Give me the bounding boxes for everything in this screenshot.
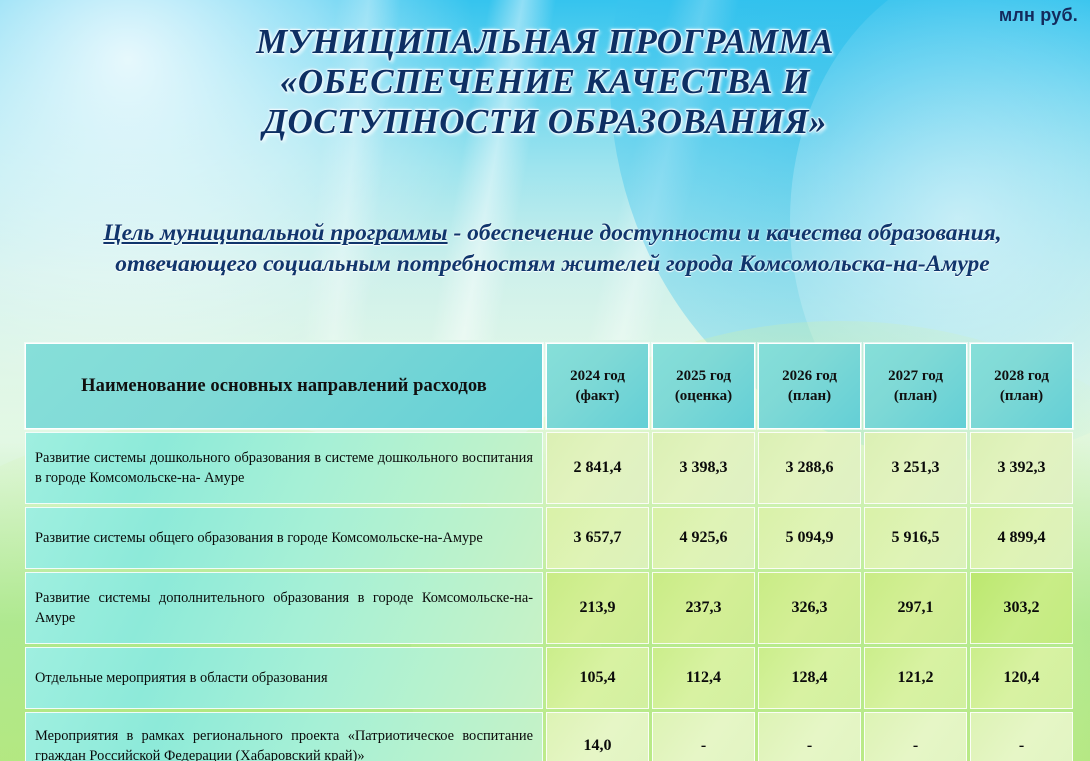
row-label: Мероприятия в рамках регионального проек… bbox=[25, 712, 543, 761]
cell-value: 303,2 bbox=[970, 572, 1073, 644]
program-goal: Цель муниципальной программы - обеспечен… bbox=[55, 218, 1050, 280]
column-header-2028-kind: (план) bbox=[973, 386, 1070, 406]
column-header-2024: 2024 год (факт) bbox=[546, 343, 649, 429]
column-header-2027-kind: (план) bbox=[867, 386, 964, 406]
column-header-2026-year: 2026 год bbox=[782, 368, 837, 384]
column-header-2025-year: 2025 год bbox=[676, 368, 731, 384]
slide-canvas: млн руб. МУНИЦИПАЛЬНАЯ ПРОГРАММА «ОБЕСПЕ… bbox=[0, 0, 1090, 761]
table-row: Развитие системы дошкольного образования… bbox=[25, 432, 1073, 504]
row-label: Развитие системы дополнительного образов… bbox=[25, 572, 543, 644]
column-header-2024-kind: (факт) bbox=[549, 386, 646, 406]
cell-value: 4 925,6 bbox=[652, 507, 755, 569]
column-header-2028-year: 2028 год bbox=[994, 368, 1049, 384]
table-row: Отдельные мероприятия в области образова… bbox=[25, 647, 1073, 709]
column-header-2025: 2025 год (оценка) bbox=[652, 343, 755, 429]
column-header-2027-year: 2027 год bbox=[888, 368, 943, 384]
cell-value: - bbox=[970, 712, 1073, 761]
table-header: Наименование основных направлений расход… bbox=[25, 343, 1073, 429]
cell-value: 5 916,5 bbox=[864, 507, 967, 569]
cell-value: 3 657,7 bbox=[546, 507, 649, 569]
cell-value: - bbox=[864, 712, 967, 761]
cell-value: 105,4 bbox=[546, 647, 649, 709]
cell-value: 326,3 bbox=[758, 572, 861, 644]
title-line-2: «ОБЕСПЕЧЕНИЕ КАЧЕСТВА И bbox=[0, 62, 1090, 102]
row-label: Развитие системы общего образования в го… bbox=[25, 507, 543, 569]
cell-value: 5 094,9 bbox=[758, 507, 861, 569]
table-body: Развитие системы дошкольного образования… bbox=[25, 432, 1073, 761]
column-header-name: Наименование основных направлений расход… bbox=[25, 343, 543, 429]
cell-value: 297,1 bbox=[864, 572, 967, 644]
column-header-2026: 2026 год (план) bbox=[758, 343, 861, 429]
table-row: Мероприятия в рамках регионального проек… bbox=[25, 712, 1073, 761]
row-label: Развитие системы дошкольного образования… bbox=[25, 432, 543, 504]
cell-value: 3 392,3 bbox=[970, 432, 1073, 504]
column-header-2028: 2028 год (план) bbox=[970, 343, 1073, 429]
title-line-1: МУНИЦИПАЛЬНАЯ ПРОГРАММА bbox=[0, 22, 1090, 62]
cell-value: - bbox=[758, 712, 861, 761]
column-header-2024-year: 2024 год bbox=[570, 368, 625, 384]
program-goal-label: Цель муниципальной программы bbox=[103, 220, 447, 246]
row-label: Отдельные мероприятия в области образова… bbox=[25, 647, 543, 709]
unit-label: млн руб. bbox=[999, 5, 1078, 26]
cell-value: 128,4 bbox=[758, 647, 861, 709]
cell-value: 2 841,4 bbox=[546, 432, 649, 504]
cell-value: 3 251,3 bbox=[864, 432, 967, 504]
cell-value: 112,4 bbox=[652, 647, 755, 709]
cell-value: 4 899,4 bbox=[970, 507, 1073, 569]
cell-value: 121,2 bbox=[864, 647, 967, 709]
budget-table-container: Наименование основных направлений расход… bbox=[22, 340, 1072, 761]
budget-table: Наименование основных направлений расход… bbox=[22, 340, 1076, 761]
cell-value: 237,3 bbox=[652, 572, 755, 644]
page-title: МУНИЦИПАЛЬНАЯ ПРОГРАММА «ОБЕСПЕЧЕНИЕ КАЧ… bbox=[0, 22, 1090, 142]
cell-value: 213,9 bbox=[546, 572, 649, 644]
title-line-3: ДОСТУПНОСТИ ОБРАЗОВАНИЯ» bbox=[0, 102, 1090, 142]
column-header-2026-kind: (план) bbox=[761, 386, 858, 406]
table-row: Развитие системы дополнительного образов… bbox=[25, 572, 1073, 644]
cell-value: 3 288,6 bbox=[758, 432, 861, 504]
cell-value: - bbox=[652, 712, 755, 761]
cell-value: 14,0 bbox=[546, 712, 649, 761]
table-header-row: Наименование основных направлений расход… bbox=[25, 343, 1073, 429]
column-header-2027: 2027 год (план) bbox=[864, 343, 967, 429]
cell-value: 3 398,3 bbox=[652, 432, 755, 504]
table-row: Развитие системы общего образования в го… bbox=[25, 507, 1073, 569]
column-header-2025-kind: (оценка) bbox=[655, 386, 752, 406]
cell-value: 120,4 bbox=[970, 647, 1073, 709]
